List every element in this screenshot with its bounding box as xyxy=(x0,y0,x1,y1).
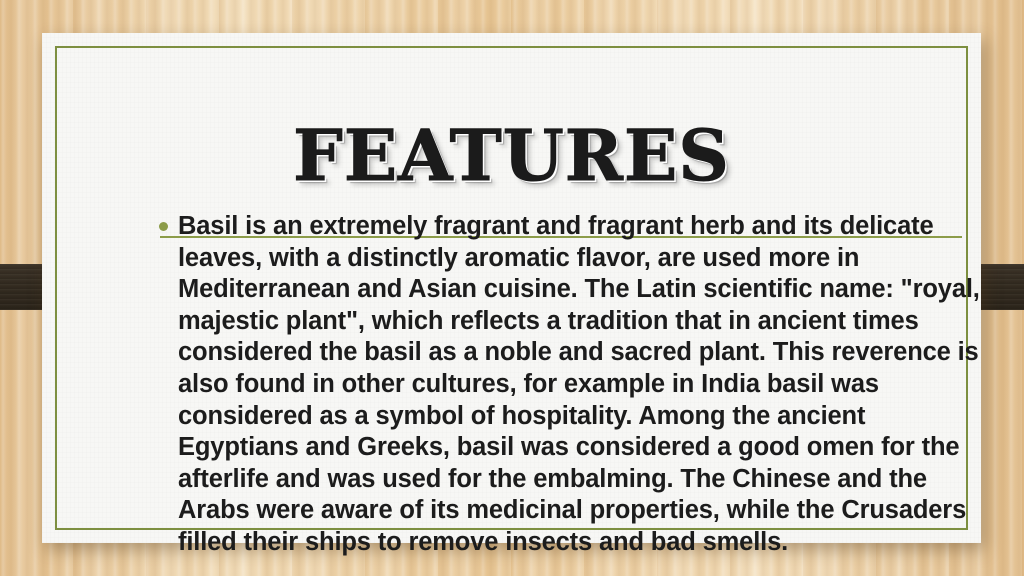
slide-card: FEATURES Basil is an extremely fragrant … xyxy=(42,33,981,543)
body-text-block: Basil is an extremely fragrant and fragr… xyxy=(150,211,980,559)
bullet-list-item: Basil is an extremely fragrant and fragr… xyxy=(150,211,980,559)
slide-title: FEATURES xyxy=(42,121,981,191)
presentation-slide: FEATURES Basil is an extremely fragrant … xyxy=(0,0,1024,576)
bullet-dot-icon xyxy=(159,222,168,231)
body-paragraph: Basil is an extremely fragrant and fragr… xyxy=(178,211,980,559)
